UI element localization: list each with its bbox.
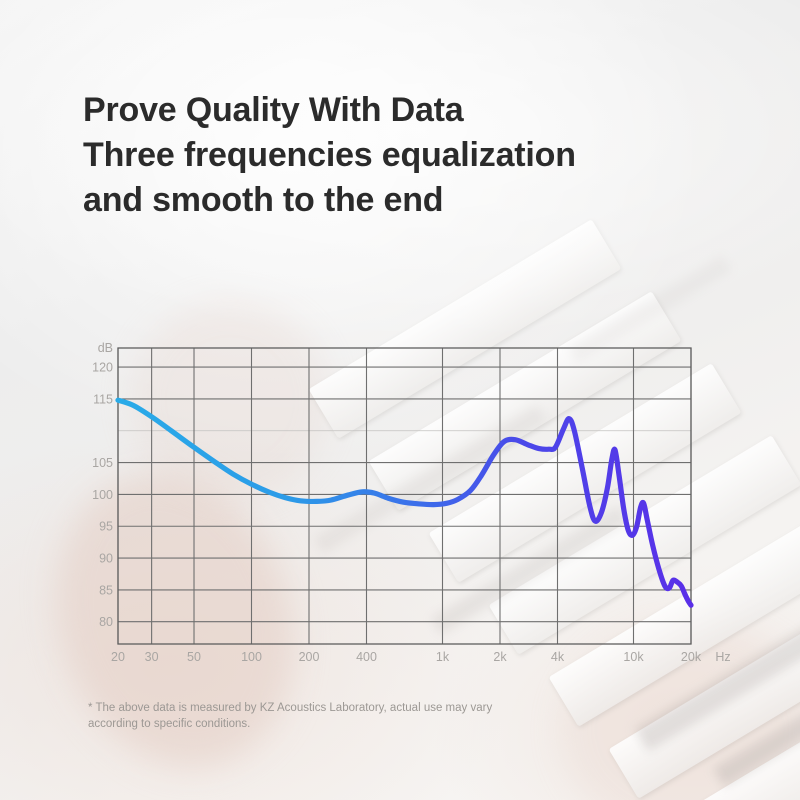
chart-footnote: * The above data is measured by KZ Acous… [88, 700, 608, 732]
y-tick-label: 85 [99, 583, 113, 597]
x-tick-label: 1k [436, 650, 450, 664]
x-tick-label: 2k [493, 650, 507, 664]
y-tick-label: 95 [99, 520, 113, 534]
x-tick-label: 10k [623, 650, 644, 664]
x-tick-label: 400 [356, 650, 377, 664]
x-tick-label: 20k [681, 650, 702, 664]
promo-page: Prove Quality With Data Three frequencie… [0, 0, 800, 800]
x-axis-tick-labels: 2030501002004001k2k4k10k20k [111, 650, 702, 664]
y-axis-tick-labels: 12011510510095908580 [92, 361, 113, 630]
y-tick-label: 115 [93, 392, 113, 406]
y-tick-label: 80 [99, 615, 113, 629]
x-axis-title: Hz [715, 650, 730, 664]
y-tick-label: 120 [92, 361, 113, 375]
x-tick-label: 30 [145, 650, 159, 664]
y-tick-label: 105 [92, 456, 113, 470]
x-tick-label: 50 [187, 650, 201, 664]
x-tick-label: 200 [299, 650, 320, 664]
y-axis-title: dB [98, 341, 113, 355]
y-tick-label: 100 [92, 488, 113, 502]
chart-svg: 12011510510095908580 2030501002004001k2k… [0, 0, 800, 800]
y-tick-label: 90 [99, 552, 113, 566]
x-tick-label: 20 [111, 650, 125, 664]
x-tick-label: 4k [551, 650, 565, 664]
frequency-response-chart: 12011510510095908580 2030501002004001k2k… [0, 0, 800, 800]
x-tick-label: 100 [241, 650, 262, 664]
